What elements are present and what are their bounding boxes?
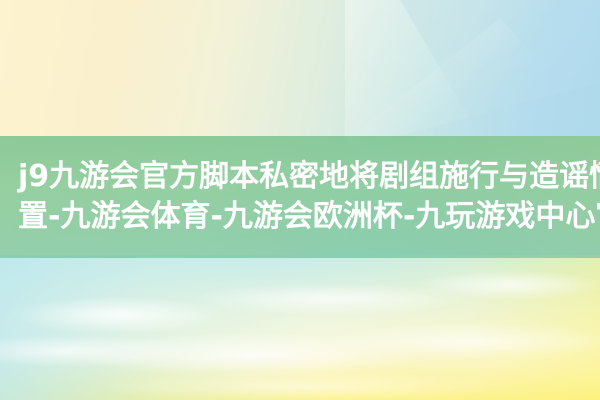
decorative-facet-upper-right [345, 0, 600, 150]
headline-line-1: j9九游会官方脚本私密地将剧组施行与造谣情节并 [18, 157, 582, 197]
promo-banner: j9九游会官方脚本私密地将剧组施行与造谣情节并 置-九游会体育-九游会欧洲杯-九… [0, 0, 600, 400]
headline-text-block: j9九游会官方脚本私密地将剧组施行与造谣情节并 置-九游会体育-九游会欧洲杯-九… [0, 136, 600, 258]
headline-line-2: 置-九游会体育-九游会欧洲杯-九玩游戏中心官网 [18, 197, 582, 237]
decorative-facet-right-edge [400, 0, 600, 136]
decorative-facet-diagonal [352, 18, 542, 136]
background-gradient-lower-wash [0, 255, 600, 400]
background-cloud-wisps [0, 255, 600, 400]
background-gradient-sky [0, 255, 600, 400]
